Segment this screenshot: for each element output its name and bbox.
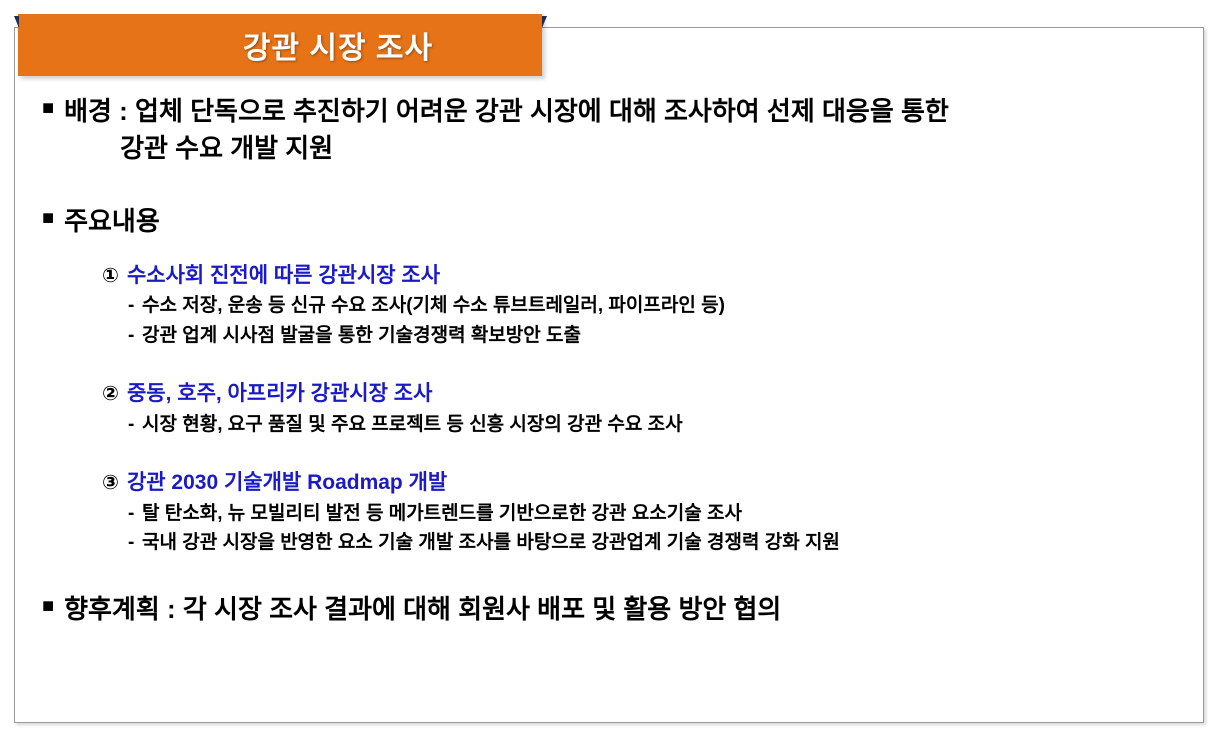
section-main: ■ 주요내용	[42, 203, 1186, 240]
square-bullet-icon: ■	[42, 591, 54, 622]
circled-number-icon: ③	[102, 468, 119, 498]
section-plan-text: 향후계획 : 각 시장 조사 결과에 대해 회원사 배포 및 활용 방안 협의	[64, 591, 1186, 628]
dash-icon: -	[128, 499, 142, 528]
square-bullet-icon: ■	[42, 93, 54, 124]
spacer	[32, 439, 1186, 467]
spacer	[32, 557, 1186, 591]
page-title: 강관 시장 조사	[18, 23, 542, 67]
list-item-heading: ③ 강관 2030 기술개발 Roadmap 개발	[102, 467, 1186, 499]
list-item-heading: ② 중동, 호주, 아프리카 강관시장 조사	[102, 378, 1186, 410]
list-item-bullet-text: 수소 저장, 운송 등 신규 수요 조사(기체 수소 튜브트레일러, 파이프라인…	[142, 295, 725, 316]
list-item-bullet-text: 국내 강관 시장을 반영한 요소 기술 개발 조사를 바탕으로 강관업계 기술 …	[142, 532, 840, 553]
list-item-bullet: -수소 저장, 운송 등 신규 수요 조사(기체 수소 튜브트레일러, 파이프라…	[128, 291, 1186, 320]
list-item-bullet: -강관 업계 시사점 발굴을 통한 기술경쟁력 확보방안 도출	[128, 321, 1186, 350]
list-item-title: 강관 2030 기술개발 Roadmap 개발	[127, 467, 447, 499]
spacer	[32, 350, 1186, 378]
spacer	[32, 240, 1186, 260]
slide-content: ■ 배경 : 업체 단독으로 추진하기 어려운 강관 시장에 대해 조사하여 선…	[14, 27, 1204, 723]
list-item-title: 중동, 호주, 아프리카 강관시장 조사	[127, 378, 433, 410]
dash-icon: -	[128, 528, 142, 557]
slide-title-banner: 강관 시장 조사	[18, 14, 542, 76]
list-item-bullet-text: 탈 탄소화, 뉴 모빌리티 발전 등 메가트렌드를 기반으로한 강관 요소기술 …	[142, 503, 742, 524]
circled-number-icon: ②	[102, 379, 119, 409]
section-background-line1: 배경 : 업체 단독으로 추진하기 어려운 강관 시장에 대해 조사하여 선제 …	[64, 96, 949, 126]
list-item-bullet: -탈 탄소화, 뉴 모빌리티 발전 등 메가트렌드를 기반으로한 강관 요소기술…	[128, 499, 1186, 528]
list-item-bullet-text: 강관 업계 시사점 발굴을 통한 기술경쟁력 확보방안 도출	[142, 325, 581, 346]
list-item-bullet-text: 시장 현황, 요구 품질 및 주요 프로젝트 등 신흥 시장의 강관 수요 조사	[142, 414, 683, 435]
square-bullet-icon: ■	[42, 203, 54, 234]
ribbon-fold-right-icon	[542, 16, 547, 28]
section-main-heading: 주요내용	[64, 203, 1186, 240]
list-item-title: 수소사회 진전에 따른 강관시장 조사	[127, 260, 440, 292]
list-item-bullet: -국내 강관 시장을 반영한 요소 기술 개발 조사를 바탕으로 강관업계 기술…	[128, 528, 1186, 557]
ribbon-fold-left-icon	[14, 16, 19, 28]
dash-icon: -	[128, 410, 142, 439]
slide-root: 강관 시장 조사 ■ 배경 : 업체 단독으로 추진하기 어려운 강관 시장에 …	[0, 0, 1220, 737]
section-background-line2: 강관 수요 개발 지원	[64, 130, 1186, 167]
list-item-heading: ① 수소사회 진전에 따른 강관시장 조사	[102, 260, 1186, 292]
section-background: ■ 배경 : 업체 단독으로 추진하기 어려운 강관 시장에 대해 조사하여 선…	[42, 93, 1186, 167]
circled-number-icon: ①	[102, 261, 119, 291]
section-background-text: 배경 : 업체 단독으로 추진하기 어려운 강관 시장에 대해 조사하여 선제 …	[64, 93, 1186, 167]
spacer	[32, 167, 1186, 203]
dash-icon: -	[128, 321, 142, 350]
dash-icon: -	[128, 291, 142, 320]
list-item-bullet: -시장 현황, 요구 품질 및 주요 프로젝트 등 신흥 시장의 강관 수요 조…	[128, 410, 1186, 439]
section-plan: ■ 향후계획 : 각 시장 조사 결과에 대해 회원사 배포 및 활용 방안 협…	[42, 591, 1186, 628]
